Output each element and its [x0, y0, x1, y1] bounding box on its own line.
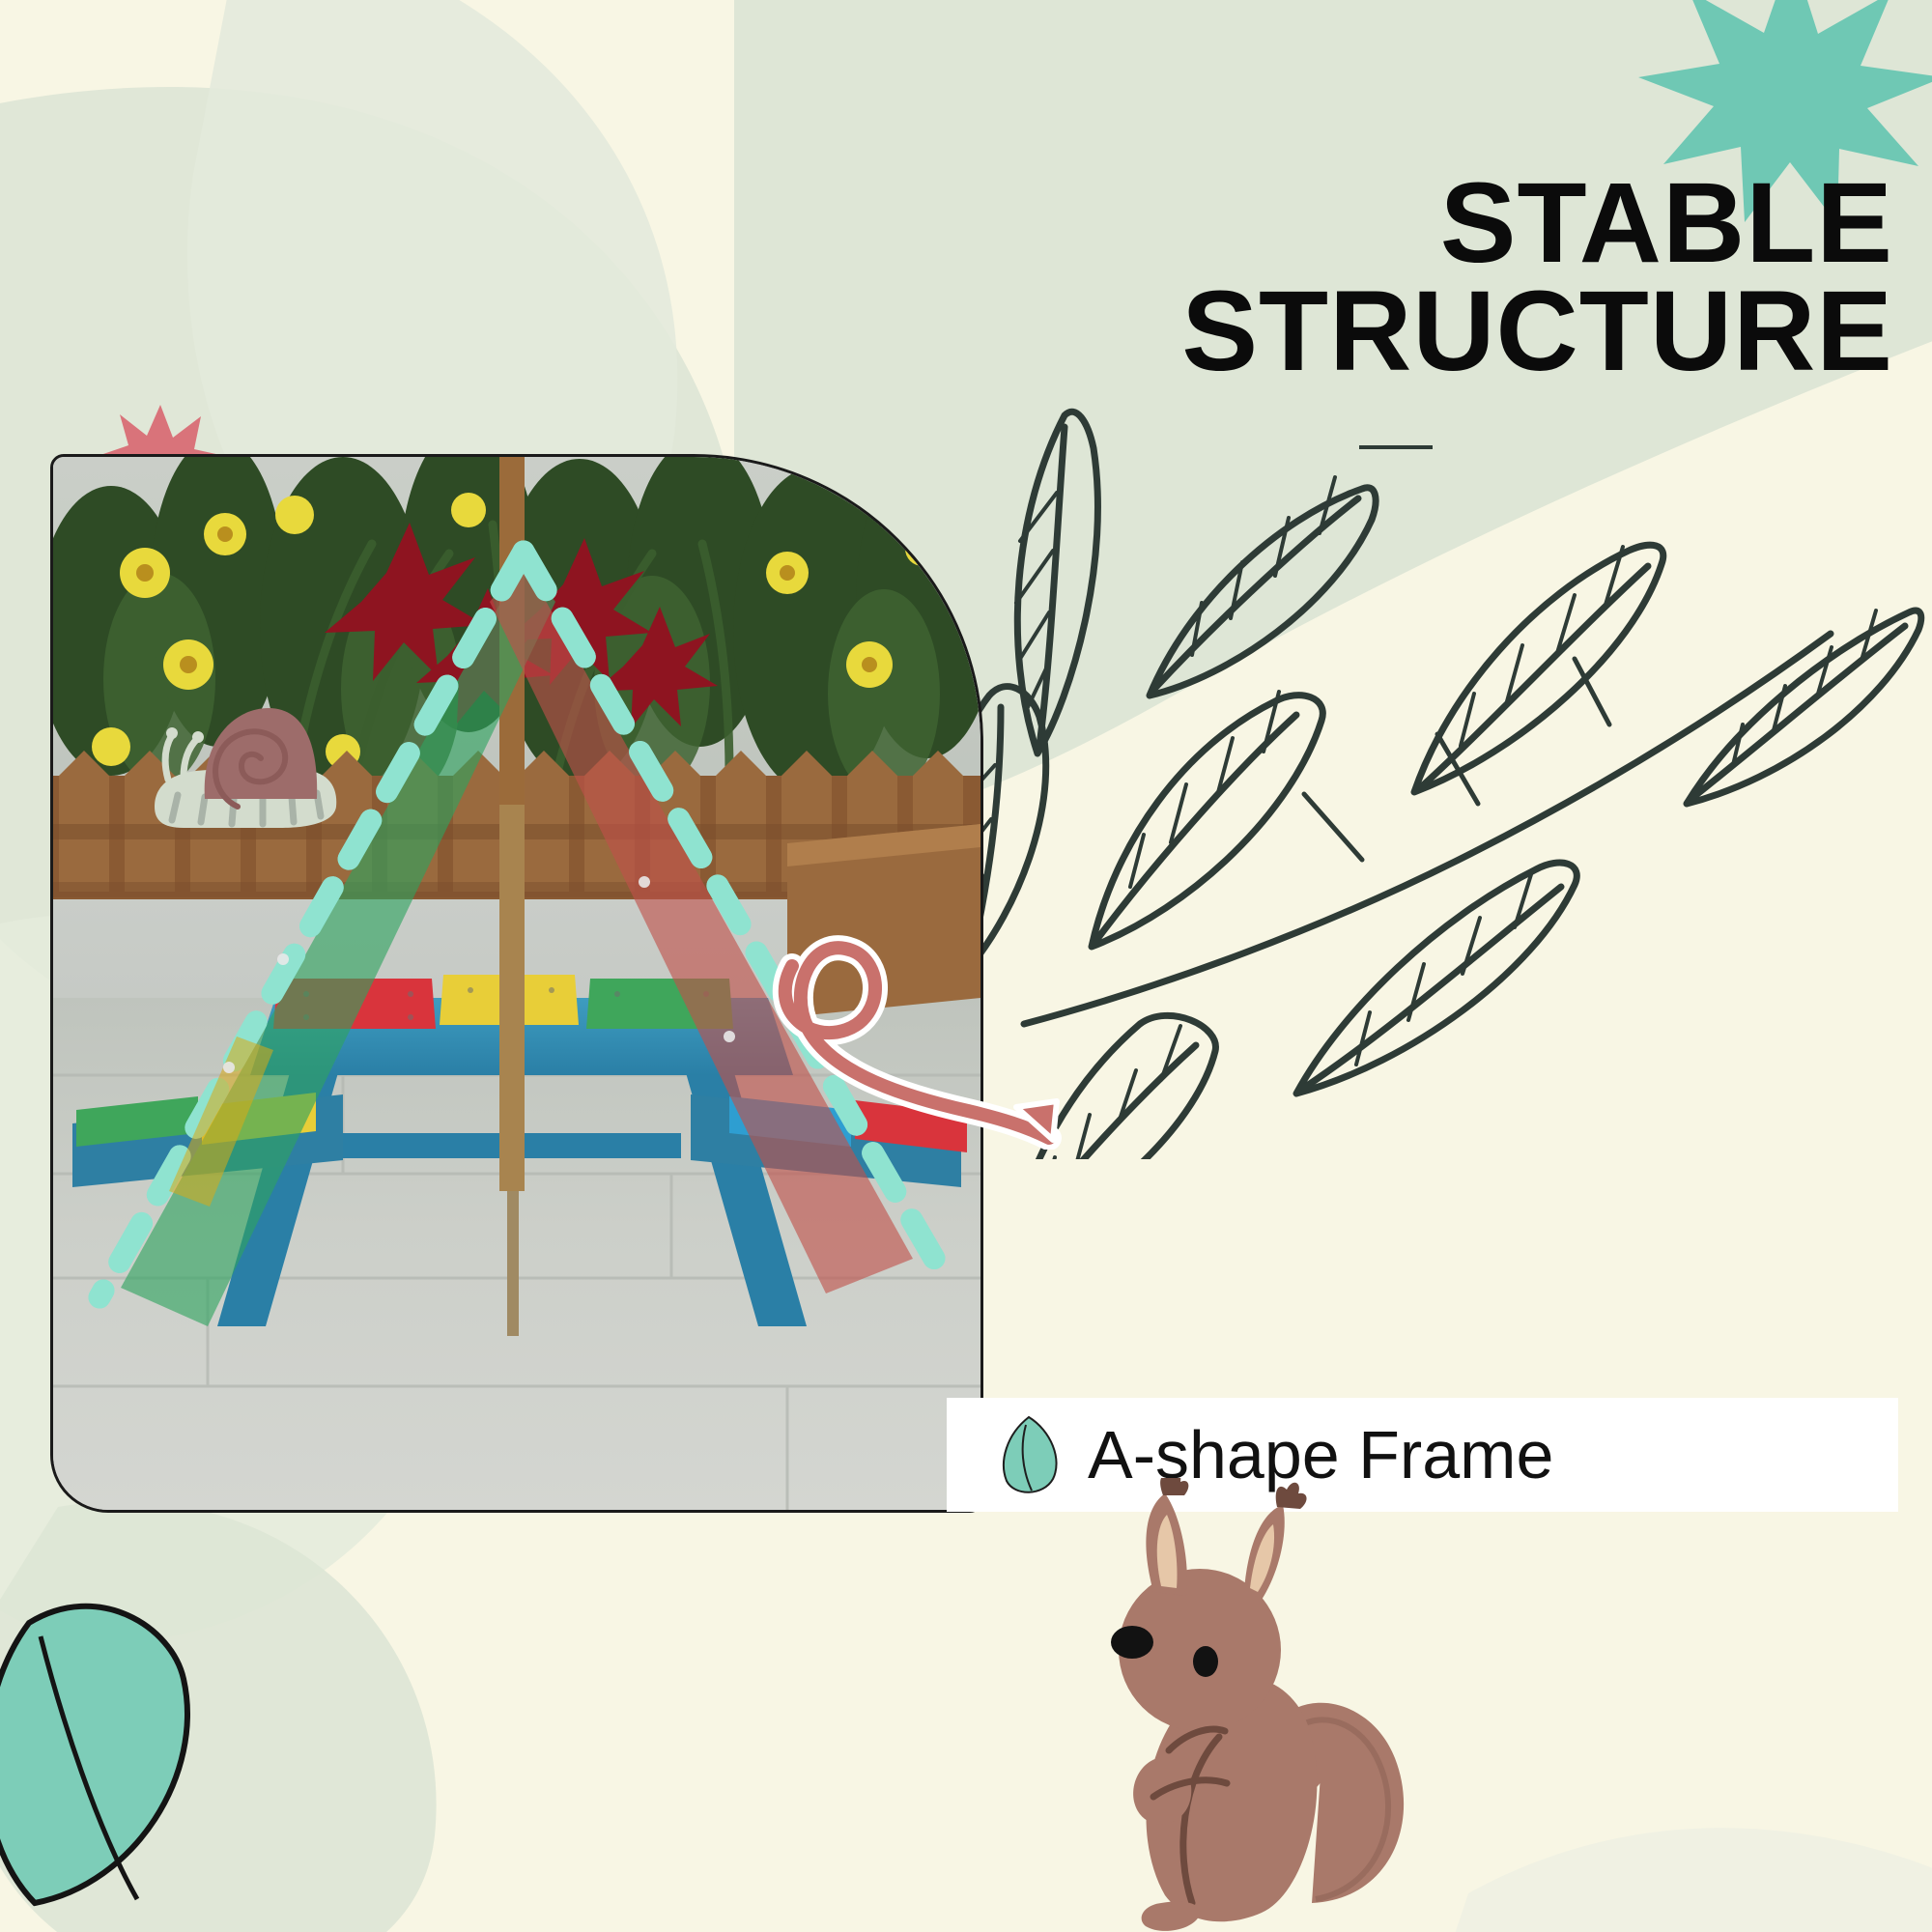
- headline-line-1: STABLE: [734, 169, 1893, 277]
- headline-line-2: STRUCTURE: [734, 277, 1893, 385]
- headline: STABLE STRUCTURE: [734, 169, 1893, 385]
- curly-arrow: [763, 908, 1111, 1150]
- leaf-icon: [0, 1594, 232, 1913]
- leaf-icon: [997, 1413, 1061, 1496]
- squirrel-mascot: [1072, 1478, 1420, 1932]
- poster-canvas: STABLE STRUCTURE: [0, 0, 1932, 1932]
